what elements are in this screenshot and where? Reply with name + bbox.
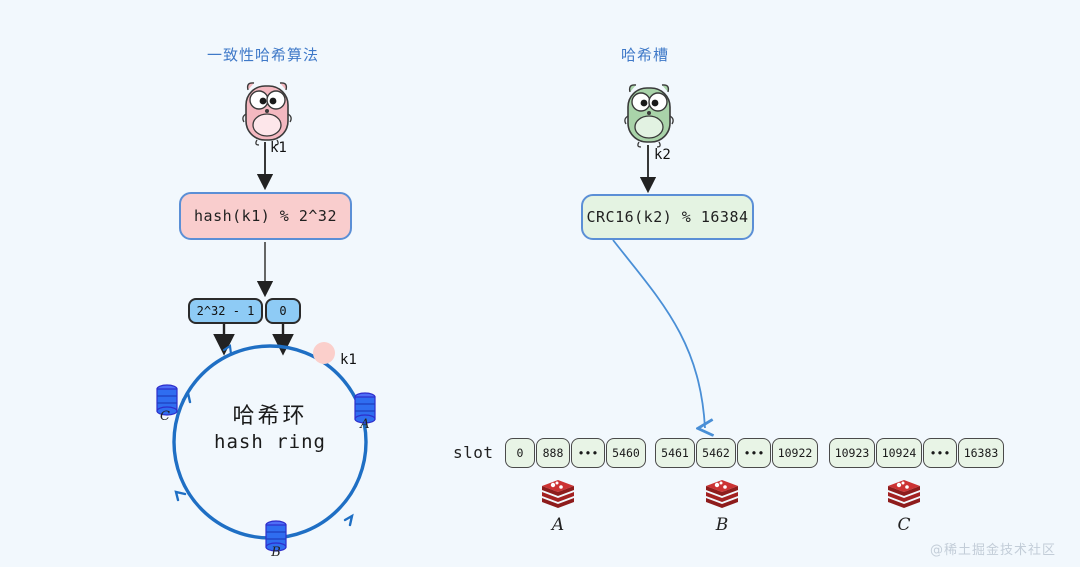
- slot-cell[interactable]: 16383: [958, 438, 1004, 468]
- redis-node-c-label: C: [891, 515, 917, 535]
- right-key-label: k2: [654, 147, 671, 163]
- ring-key-marker: [313, 342, 335, 364]
- ring-node-c-label: C: [152, 409, 178, 424]
- slot-cell-ellipsis: •••: [923, 438, 957, 468]
- right-panel-title: 哈希槽: [621, 44, 669, 65]
- slot-cell[interactable]: 10922: [772, 438, 818, 468]
- slot-cell-ellipsis: •••: [571, 438, 605, 468]
- hash-formula-box: hash(k1) % 2^32: [179, 192, 352, 240]
- go-gopher-green-icon: [625, 85, 673, 147]
- ring-node-a-label: A: [352, 417, 378, 432]
- slot-cell[interactable]: 10923: [829, 438, 875, 468]
- slot-cell-highlighted[interactable]: 5462: [696, 438, 736, 468]
- redis-node-c-icon: [888, 480, 920, 508]
- go-gopher-pink-icon: [243, 83, 291, 145]
- ring-title-en: hash ring: [180, 431, 360, 453]
- slot-cell[interactable]: 10924: [876, 438, 922, 468]
- redis-node-b-icon: [706, 480, 738, 508]
- crc-formula-box: CRC16(k2) % 16384: [581, 194, 754, 240]
- slot-cell[interactable]: 0: [505, 438, 535, 468]
- diagram-canvas: 一致性哈希算法 k1 hash(k1) % 2^32 2^32 - 1 0 k1…: [0, 0, 1080, 567]
- slot-group-b: 5461 5462 ••• 10922: [655, 438, 819, 468]
- slot-label: slot: [453, 443, 494, 462]
- slot-cell[interactable]: 888: [536, 438, 570, 468]
- slot-cell[interactable]: 5460: [606, 438, 646, 468]
- ring-title-cn: 哈希环: [180, 398, 360, 430]
- ring-node-b-label: B: [263, 545, 289, 560]
- ring-key-marker-label: k1: [340, 352, 357, 368]
- crc-to-slot-arrow: [613, 240, 705, 428]
- redis-node-a-label: A: [545, 515, 571, 535]
- left-panel-title: 一致性哈希算法: [207, 44, 319, 65]
- left-key-label: k1: [270, 140, 287, 156]
- boundary-to-ring-arrows: [224, 324, 283, 346]
- boundary-chip-max: 2^32 - 1: [188, 298, 263, 324]
- slot-group-a: 0 888 ••• 5460: [505, 438, 647, 468]
- slot-group-c: 10923 10924 ••• 16383: [829, 438, 1005, 468]
- boundary-chip-zero: 0: [265, 298, 301, 324]
- redis-node-a-icon: [542, 480, 574, 508]
- watermark: @稀土掘金技术社区: [930, 539, 1056, 558]
- diagram-vector-layer: [0, 0, 1080, 567]
- redis-node-b-label: B: [709, 515, 735, 535]
- slot-cell[interactable]: 5461: [655, 438, 695, 468]
- slot-cell-ellipsis: •••: [737, 438, 771, 468]
